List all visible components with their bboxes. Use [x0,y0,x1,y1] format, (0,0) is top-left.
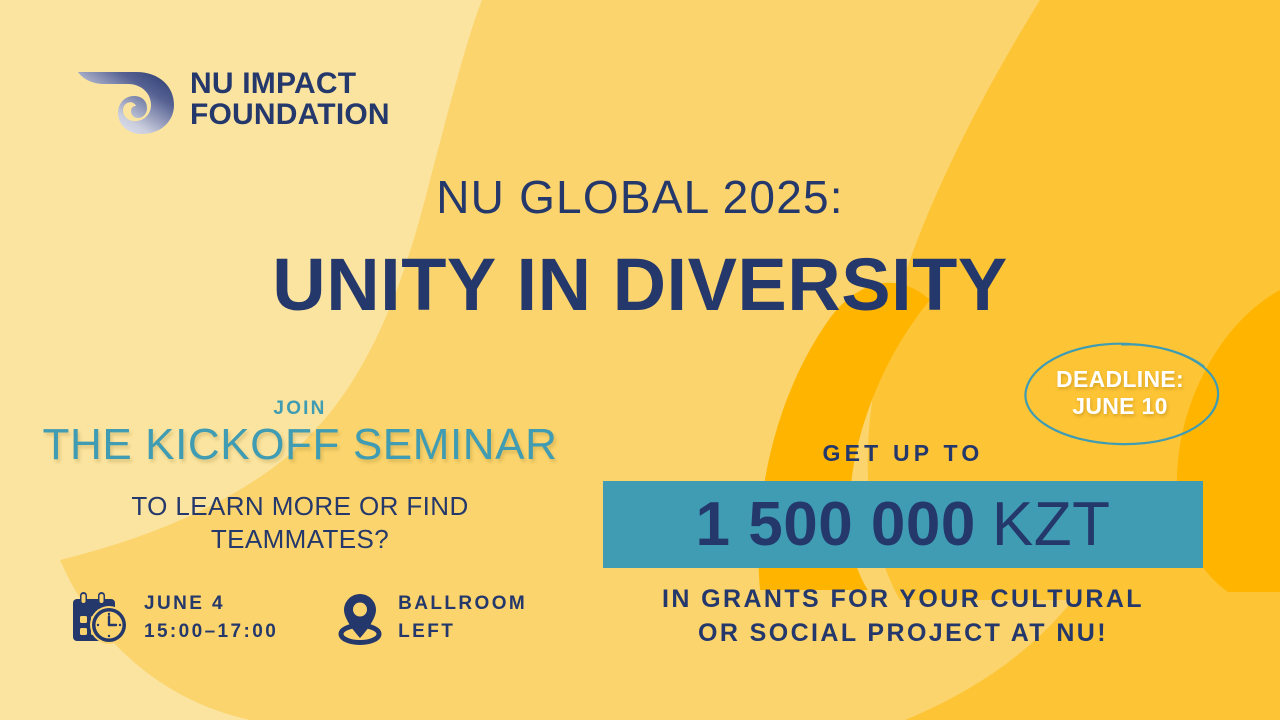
headline-kicker: NU GLOBAL 2025: [0,170,1280,224]
nu-impact-spiral-wing-logo [74,62,178,138]
get-up-to-label: GET UP TO [603,440,1203,467]
poster-canvas: NU IMPACT FOUNDATION NU GLOBAL 2025: UNI… [0,0,1280,720]
grant-currency: KZT [992,489,1111,560]
deadline-badge: DEADLINE: JUNE 10 [1018,338,1222,448]
event-datetime: JUNE 4 15:00–17:00 [70,590,278,645]
brand-logo: NU IMPACT FOUNDATION [74,62,390,138]
event-details-row: JUNE 4 15:00–17:00 BALLROOM LEFT [70,590,527,645]
grant-amount-banner: 1 500 000 KZT [603,481,1203,568]
brand-logo-text: NU IMPACT FOUNDATION [190,69,390,131]
location-pin-icon [336,591,384,645]
deadline-text: DEADLINE: JUNE 10 [1018,338,1222,448]
event-datetime-text: JUNE 4 15:00–17:00 [144,590,278,645]
grant-amount-value: 1 500 000 [696,489,976,560]
event-location-text: BALLROOM LEFT [398,590,527,645]
grant-description: IN GRANTS FOR YOUR CULTURAL OR SOCIAL PR… [603,583,1203,651]
seminar-title: THE KICKOFF SEMINAR [20,420,580,470]
seminar-purpose-text: TO LEARN MORE OR FIND TEAMMATES? [20,490,580,557]
headline-title: UNITY IN DIVERSITY [0,242,1280,327]
event-location: BALLROOM LEFT [336,590,527,645]
calendar-clock-icon [70,591,130,645]
join-label: JOIN [20,398,580,420]
